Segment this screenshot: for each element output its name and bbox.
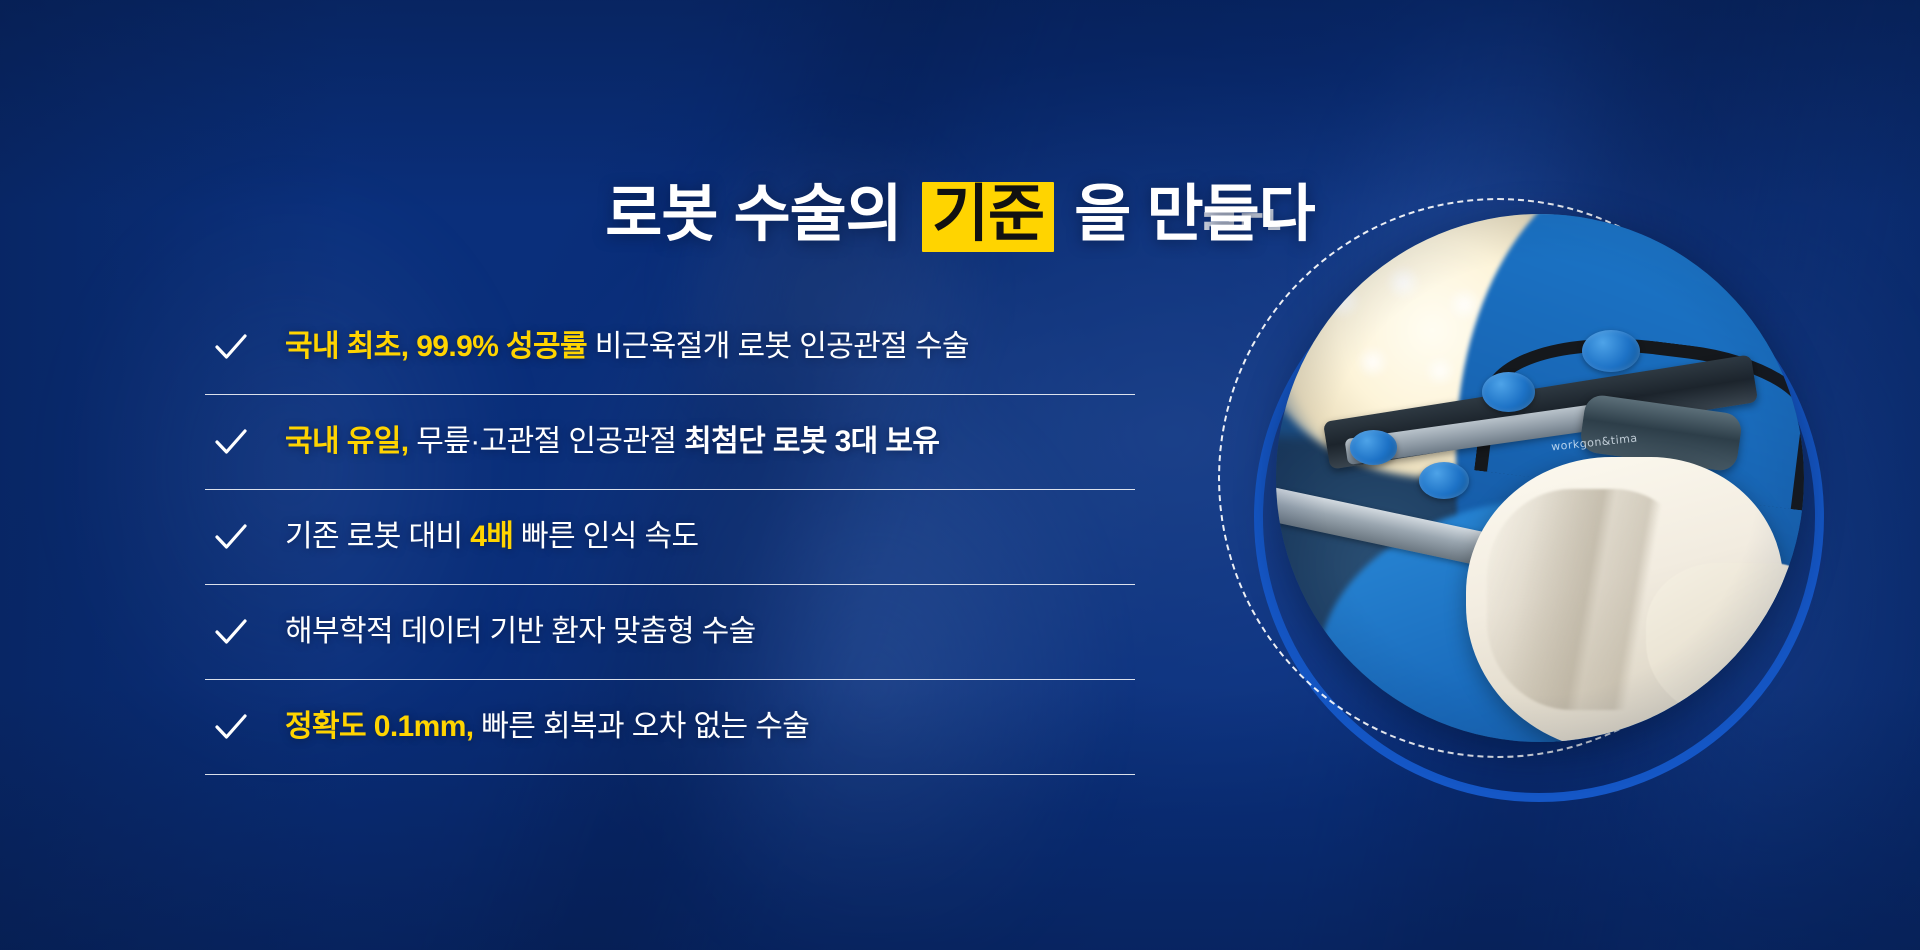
feature-label-segment: 빠른 인식 속도 bbox=[513, 520, 698, 553]
feature-item: 해부학적 데이터 기반 환자 맞춤형 수술 bbox=[205, 585, 1135, 680]
check-icon bbox=[211, 517, 251, 557]
feature-label-segment: 무릎·고관절 인공관절 bbox=[408, 425, 684, 458]
check-icon bbox=[211, 327, 251, 367]
feature-label-segment: 국내 유일, bbox=[285, 425, 408, 458]
feature-label-segment: 빠른 회복과 오차 없는 수술 bbox=[474, 710, 810, 743]
feature-label: 기존 로봇 대비 4배 빠른 인식 속도 bbox=[285, 519, 699, 555]
feature-label: 정확도 0.1mm, 빠른 회복과 오차 없는 수술 bbox=[285, 709, 809, 745]
feature-label: 국내 최초, 99.9% 성공률 비근육절개 로봇 인공관절 수술 bbox=[285, 329, 969, 365]
feature-item: 국내 유일, 무릎·고관절 인공관절 최첨단 로봇 3대 보유 bbox=[205, 395, 1135, 490]
feature-label-segment: 비근육절개 로봇 인공관절 수술 bbox=[587, 330, 969, 363]
feature-label-segment: 최첨단 로봇 3대 보유 bbox=[684, 425, 939, 458]
hero-banner: 로봇 수술의 기준 을 만들다 국내 최초, 99.9% 성공률 비근육절개 로… bbox=[0, 0, 1920, 950]
headline-after: 을 만들다 bbox=[1074, 180, 1314, 249]
check-icon bbox=[211, 707, 251, 747]
feature-item: 기존 로봇 대비 4배 빠른 인식 속도 bbox=[205, 490, 1135, 585]
check-icon bbox=[211, 612, 251, 652]
feature-list: 국내 최초, 99.9% 성공률 비근육절개 로봇 인공관절 수술국내 유일, … bbox=[205, 300, 1135, 775]
feature-item: 정확도 0.1mm, 빠른 회복과 오차 없는 수술 bbox=[205, 680, 1135, 775]
feature-label-segment: 4배 bbox=[470, 520, 513, 553]
robot-surgery-photo-module: workgon&tima bbox=[1210, 190, 1830, 810]
feature-label: 국내 유일, 무릎·고관절 인공관절 최첨단 로봇 3대 보유 bbox=[285, 424, 939, 460]
feature-label-segment: 기존 로봇 대비 bbox=[285, 520, 470, 553]
feature-label-segment: 국내 최초, 99.9% 성공률 bbox=[285, 330, 587, 363]
headline-highlight: 기준 bbox=[922, 182, 1054, 252]
page-title: 로봇 수술의 기준 을 만들다 bbox=[0, 182, 1920, 252]
feature-item: 국내 최초, 99.9% 성공률 비근육절개 로봇 인공관절 수술 bbox=[205, 300, 1135, 395]
robot-surgery-photo: workgon&tima bbox=[1276, 214, 1804, 742]
headline-before: 로봇 수술의 bbox=[605, 180, 901, 249]
check-icon bbox=[211, 422, 251, 462]
photo-edge-shading bbox=[1276, 214, 1804, 742]
feature-label-segment: 해부학적 데이터 기반 환자 맞춤형 수술 bbox=[285, 615, 756, 648]
feature-label: 해부학적 데이터 기반 환자 맞춤형 수술 bbox=[285, 614, 756, 650]
feature-label-segment: 정확도 0.1mm, bbox=[285, 710, 474, 743]
